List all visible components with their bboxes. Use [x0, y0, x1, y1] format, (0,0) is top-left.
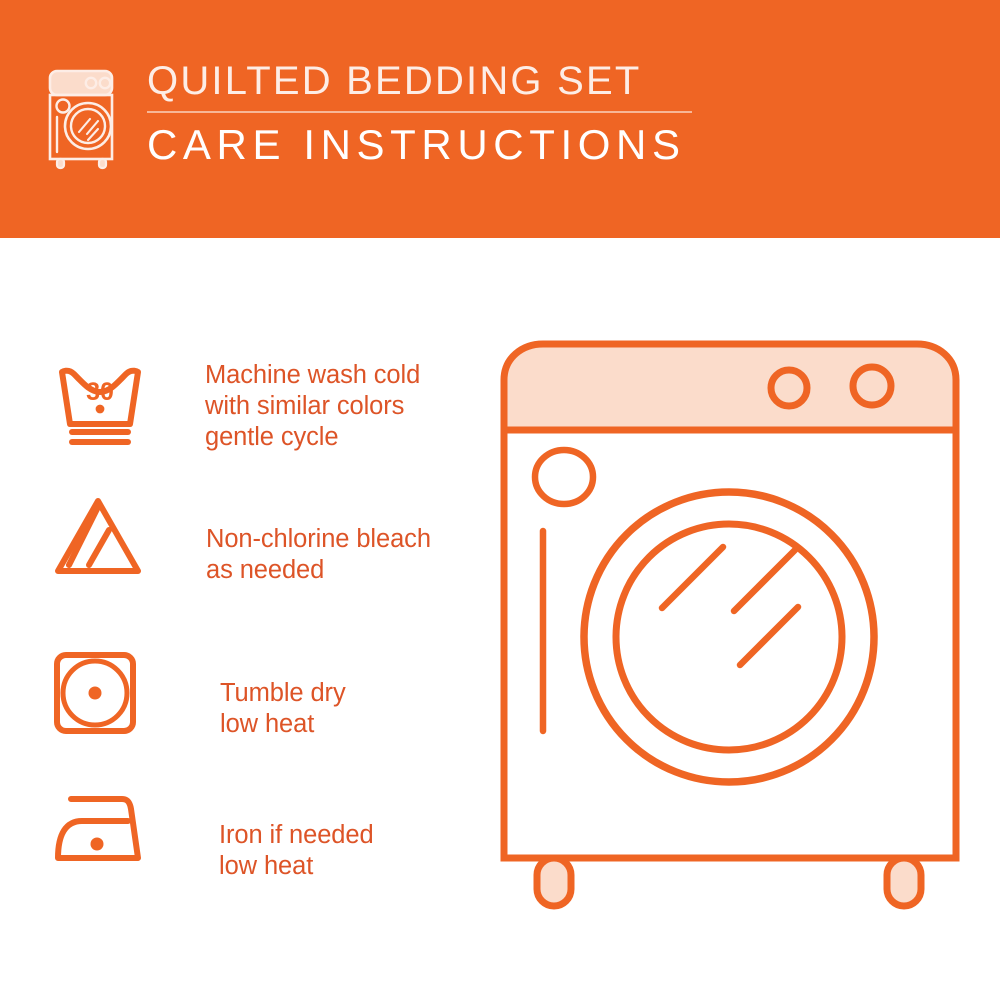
- knob-right: [853, 367, 891, 405]
- care-item-machine-wash: 30 Machine wash cold with similar colors…: [52, 358, 420, 453]
- care-item-tumble-dry: Tumble dry low heat: [52, 650, 346, 740]
- washing-machine-icon: [45, 68, 123, 173]
- title-divider: [147, 111, 692, 113]
- non-chlorine-bleach-triangle-icon: [52, 495, 144, 577]
- care-item-label: Non-chlorine bleach as needed: [206, 524, 431, 586]
- care-instructions-infographic: QUILTED BEDDING SET CARE INSTRUCTIONS 30…: [0, 0, 1000, 1000]
- knob-left: [771, 370, 807, 406]
- front-load-washing-machine-illustration: [495, 335, 965, 925]
- leg-right: [887, 858, 921, 906]
- header-title-block: QUILTED BEDDING SET CARE INSTRUCTIONS: [147, 58, 692, 169]
- wash-temperature-value: 30: [86, 378, 114, 406]
- header-banner: QUILTED BEDDING SET CARE INSTRUCTIONS: [0, 0, 1000, 238]
- care-item-label: Iron if needed low heat: [219, 820, 374, 882]
- leg-left: [537, 858, 571, 906]
- tumble-dry-low-heat-icon: [52, 650, 138, 736]
- page-subtitle: CARE INSTRUCTIONS: [147, 121, 692, 169]
- care-item-iron: Iron if needed low heat: [52, 790, 374, 882]
- care-item-label: Tumble dry low heat: [220, 678, 346, 740]
- care-item-bleach: Non-chlorine bleach as needed: [52, 495, 431, 586]
- care-item-label: Machine wash cold with similar colors ge…: [205, 360, 420, 453]
- iron-low-heat-icon: [52, 790, 152, 866]
- page-title: QUILTED BEDDING SET: [147, 58, 692, 104]
- wash-tub-30-gentle-icon: 30: [52, 358, 148, 448]
